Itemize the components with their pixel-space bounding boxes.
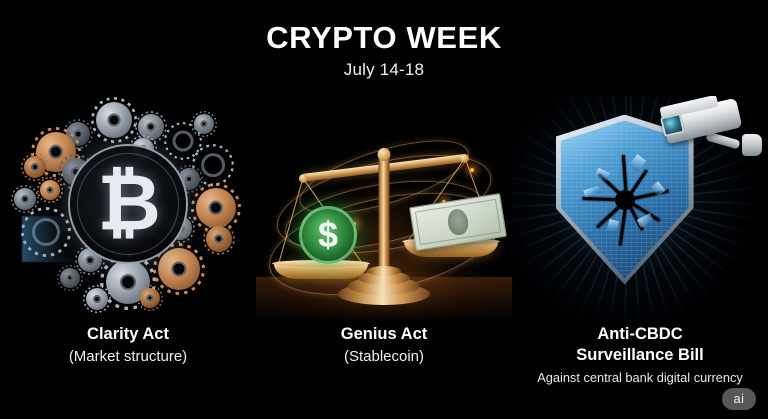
gear-icon	[194, 114, 214, 134]
card-genius-act[interactable]: $ Genius Act (Stablecoin)	[256, 96, 512, 419]
bills-card-row: ₿ Clarity Act (Market structure)	[0, 96, 768, 419]
card-title-line-1: Anti-CBDC	[512, 324, 768, 345]
gear-icon	[40, 180, 60, 200]
card-subtitle: Against central bank digital currency	[512, 370, 768, 385]
card-title: Genius Act	[256, 324, 512, 345]
broken-shield-camera-illustration	[512, 96, 768, 321]
gear-icon	[14, 188, 36, 210]
bill-portrait	[446, 208, 470, 237]
card-clarity-act[interactable]: ₿ Clarity Act (Market structure)	[0, 96, 256, 419]
surveillance-camera-icon	[658, 102, 762, 180]
gear-icon	[158, 248, 200, 290]
gear-icon	[60, 268, 80, 288]
shatter-cracks	[579, 154, 671, 246]
card-title: Clarity Act	[0, 324, 256, 345]
gear-icon	[24, 156, 46, 178]
blue-data-wisp	[22, 216, 92, 262]
scale-pan-left	[274, 264, 368, 279]
page-title: CRYPTO WEEK	[0, 22, 768, 55]
card-caption-clarity-act: Clarity Act (Market structure)	[0, 324, 256, 365]
dollar-coin-icon: $	[299, 206, 357, 264]
gear-icon	[196, 188, 236, 228]
ai-watermark-badge: ai	[722, 388, 756, 410]
gear-icon	[206, 226, 232, 252]
bitcoin-gears-illustration: ₿	[0, 96, 256, 321]
gear-icon	[140, 288, 160, 308]
camera-mount	[742, 134, 762, 156]
card-caption-anti-cbdc: Anti-CBDC Surveillance Bill Against cent…	[512, 324, 768, 385]
card-subtitle: (Stablecoin)	[256, 348, 512, 365]
dollar-sign-glyph: $	[318, 217, 338, 253]
bitcoin-icon: ₿	[97, 163, 159, 241]
card-subtitle: (Market structure)	[0, 348, 256, 365]
card-title-line-2: Surveillance Bill	[512, 345, 768, 366]
gear-icon	[86, 288, 108, 310]
page-header: CRYPTO WEEK July 14-18	[0, 0, 768, 80]
page-subtitle: July 14-18	[0, 60, 768, 80]
card-caption-genius-act: Genius Act (Stablecoin)	[256, 324, 512, 365]
impact-point	[615, 190, 635, 210]
card-anti-cbdc[interactable]: Anti-CBDC Surveillance Bill Against cent…	[512, 96, 768, 419]
balance-scale-illustration: $	[256, 96, 512, 321]
gear-icon	[96, 102, 132, 138]
